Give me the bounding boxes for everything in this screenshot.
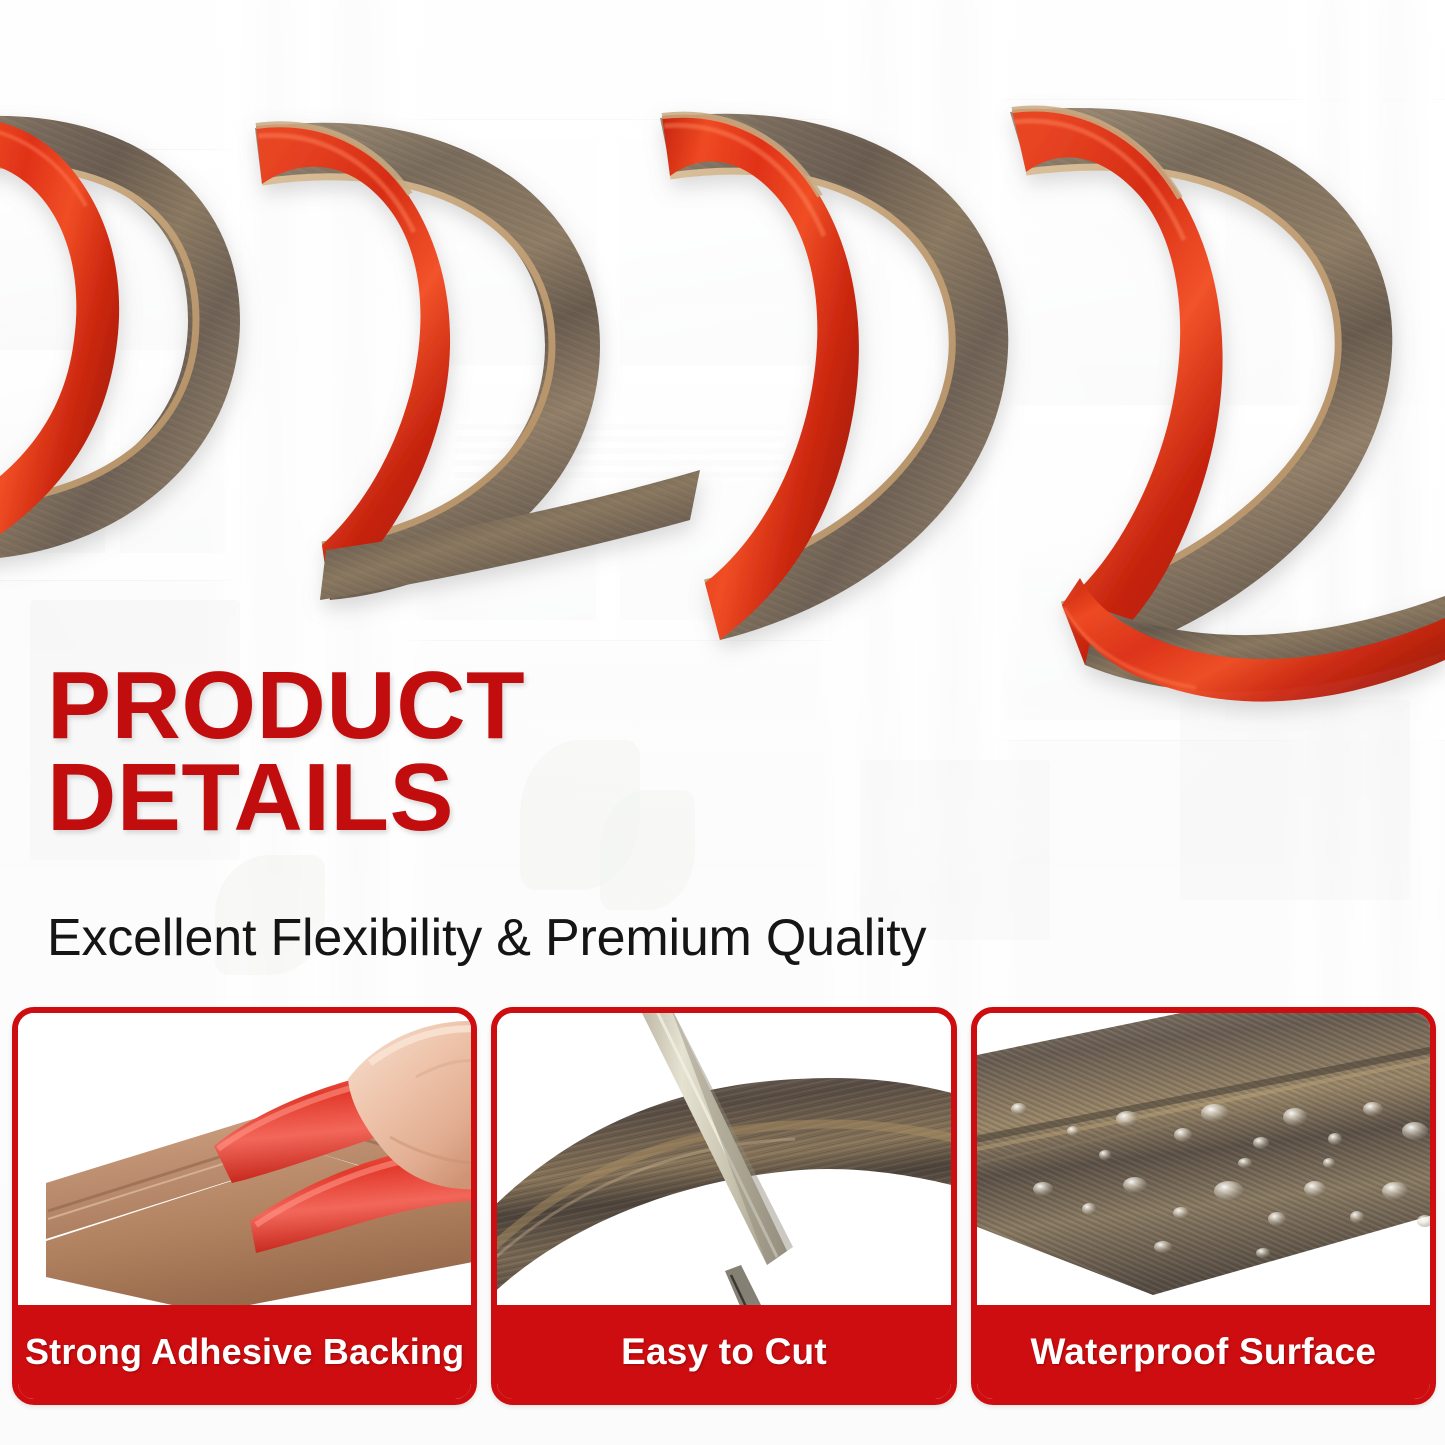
feature-image-cutting bbox=[497, 1013, 950, 1313]
feature-caption-bar: Easy to Cut bbox=[497, 1305, 950, 1399]
feature-card-waterproof-surface[interactable]: Waterproof Surface bbox=[971, 1007, 1436, 1405]
coil-loop-3 bbox=[660, 114, 1008, 640]
feature-image-waterproof bbox=[977, 1013, 1430, 1313]
feature-caption-text: Waterproof Surface bbox=[1031, 1331, 1377, 1373]
hero-product-coil bbox=[0, 0, 1445, 730]
feature-card-list: Strong Adhesive Backing bbox=[12, 1007, 1436, 1405]
feature-card-strong-adhesive-backing[interactable]: Strong Adhesive Backing bbox=[12, 1007, 477, 1405]
coil-loop-1 bbox=[0, 116, 240, 560]
page-subtitle: Excellent Flexibility & Premium Quality bbox=[47, 908, 1227, 968]
feature-caption-text: Easy to Cut bbox=[621, 1331, 827, 1373]
product-detail-banner: PRODUCT DETAILS Excellent Flexibility & … bbox=[0, 0, 1445, 1445]
feature-caption-text: Strong Adhesive Backing bbox=[25, 1331, 464, 1373]
page-title-line2: DETAILS bbox=[47, 752, 1027, 844]
coil-loop-4 bbox=[1010, 108, 1392, 665]
feature-caption-bar: Strong Adhesive Backing bbox=[18, 1305, 471, 1399]
page-title-line1: PRODUCT bbox=[47, 652, 525, 759]
feature-caption-bar: Waterproof Surface bbox=[977, 1305, 1430, 1399]
feature-image-adhesive bbox=[18, 1013, 471, 1313]
page-title: PRODUCT DETAILS bbox=[47, 660, 1027, 844]
feature-card-easy-to-cut[interactable]: Easy to Cut bbox=[491, 1007, 956, 1405]
